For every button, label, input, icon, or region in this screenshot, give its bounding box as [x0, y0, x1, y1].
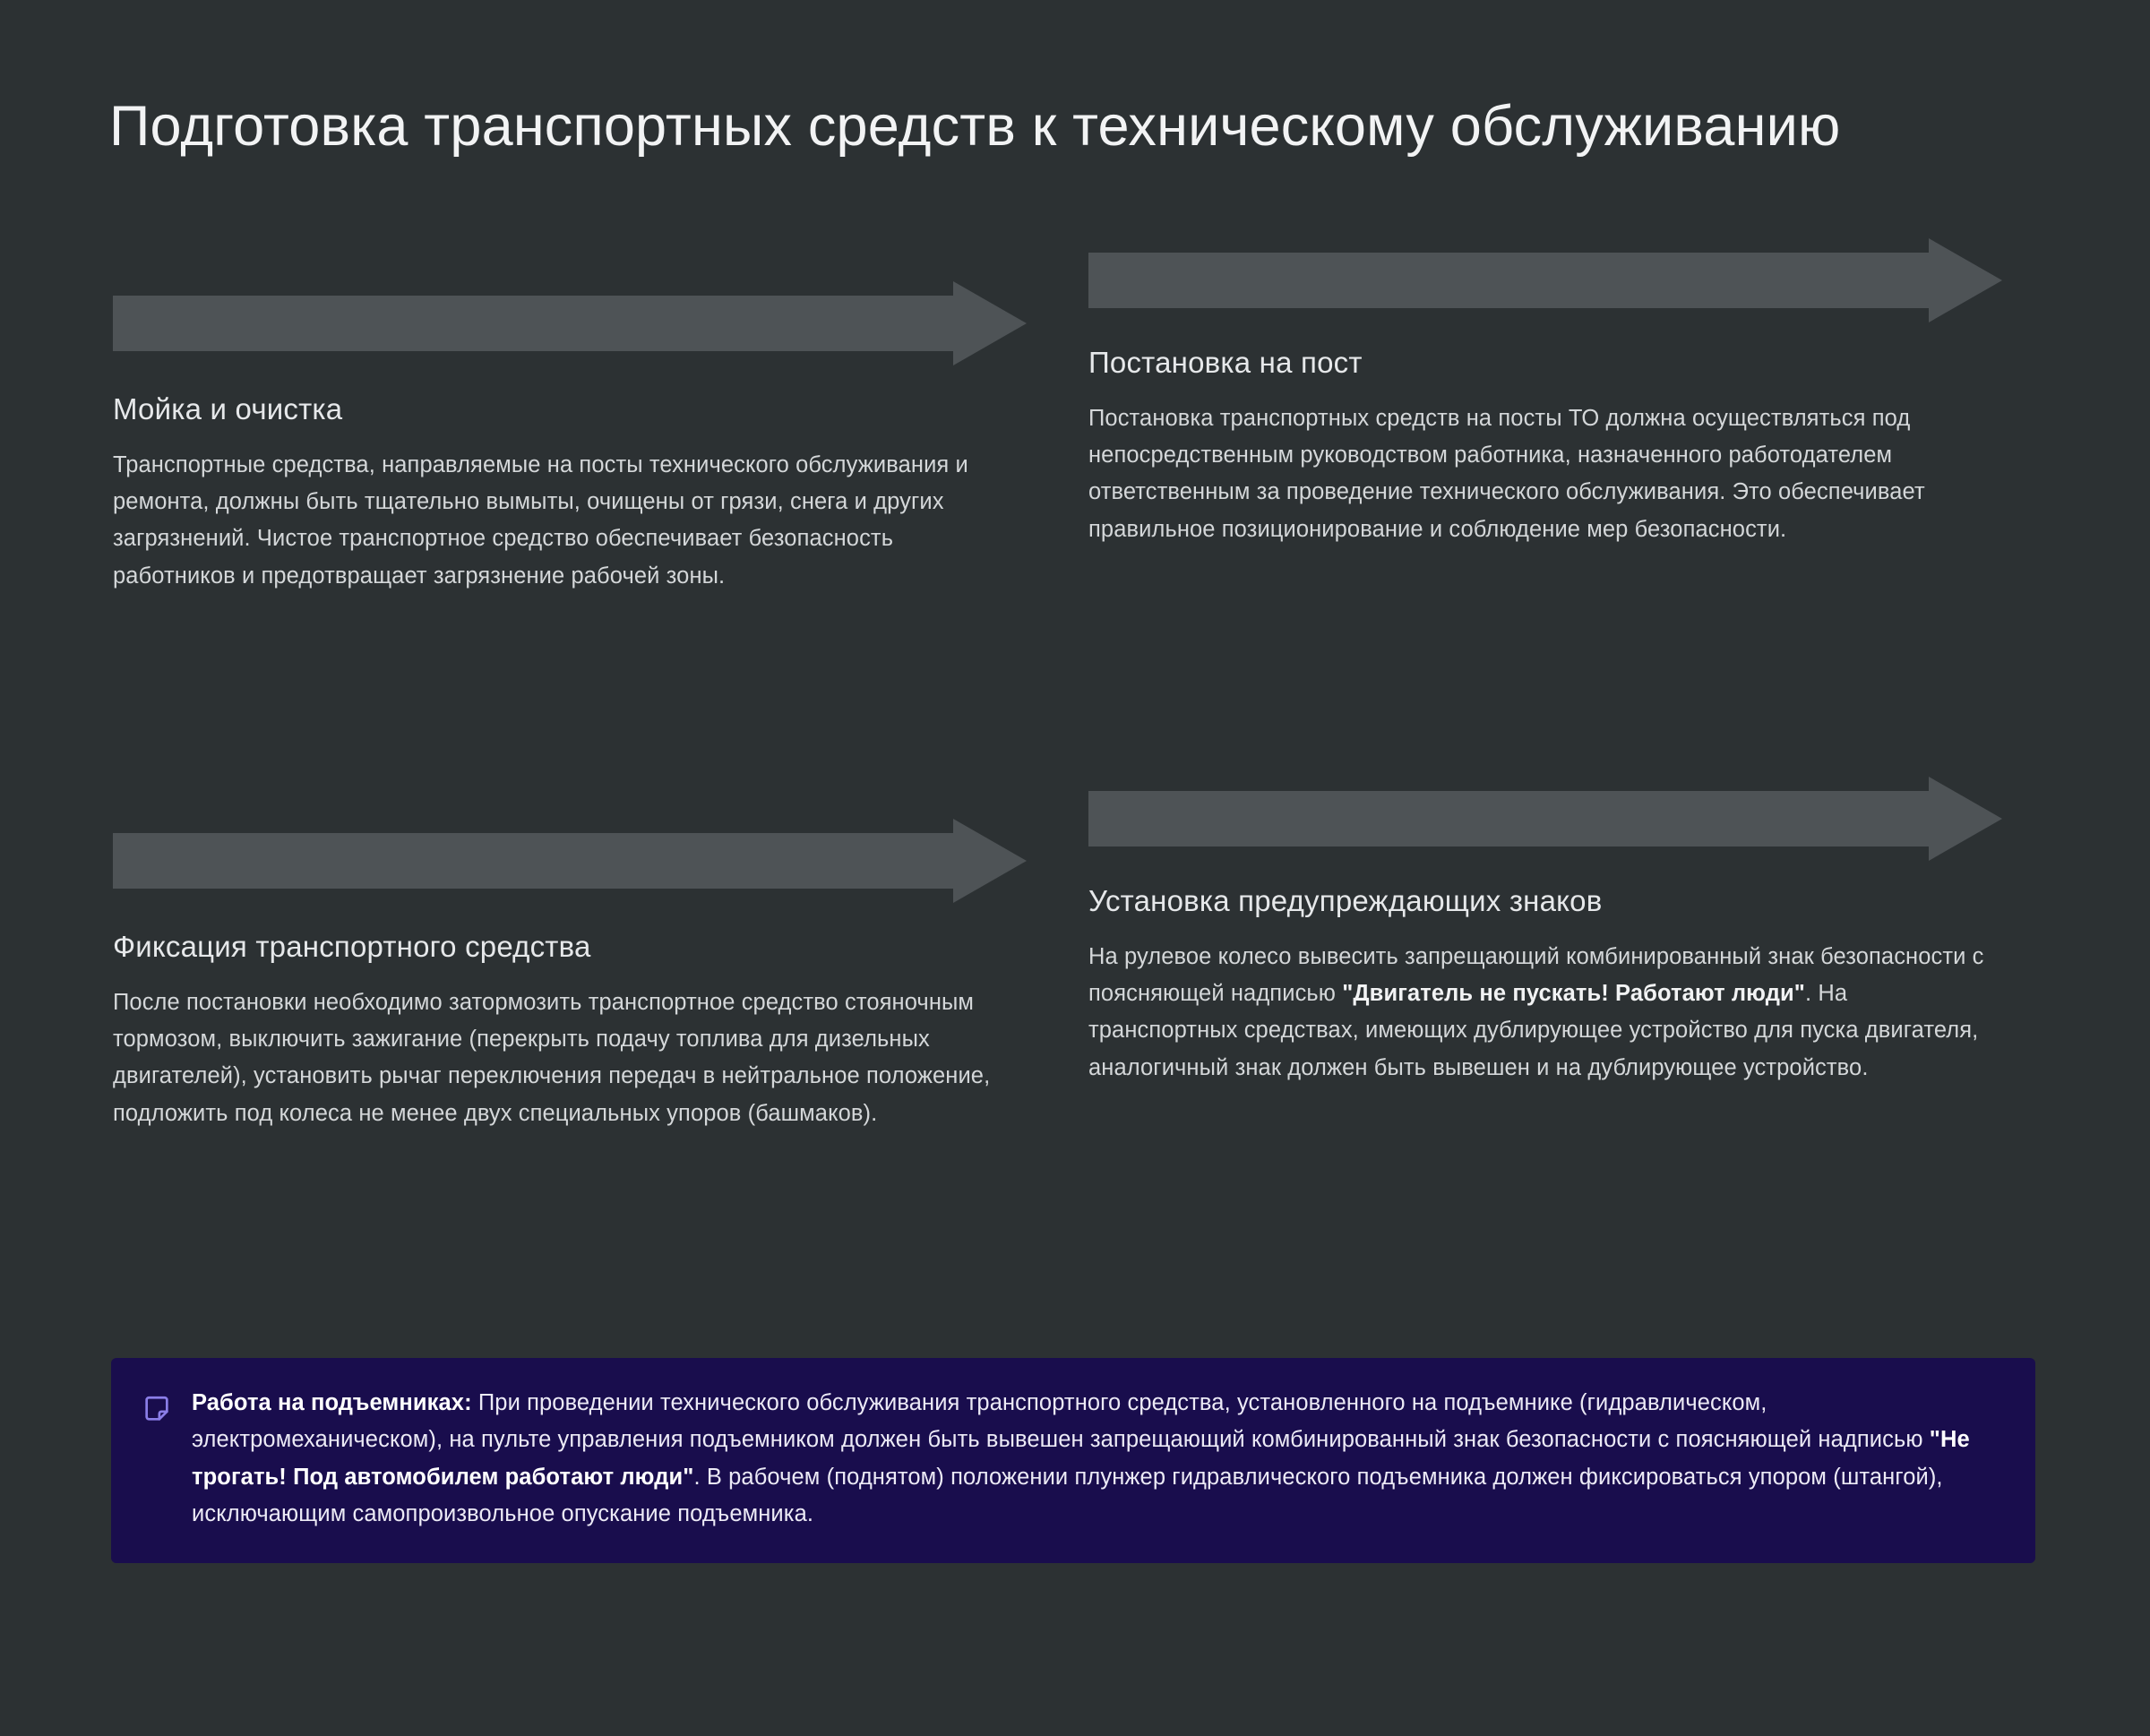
arrow-shaft	[113, 296, 955, 351]
arrow-right-icon	[1088, 253, 2002, 308]
callout-box-lifts: Работа на подъемниках: При проведении те…	[111, 1358, 2035, 1563]
step-card-positioning: Постановка на пост Постановка транспортн…	[1088, 253, 2002, 548]
step-title: Установка предупреждающих знаков	[1088, 882, 2002, 921]
step-card-warning-signs: Установка предупреждающих знаков На руле…	[1088, 791, 2002, 1087]
arrow-right-icon	[1088, 791, 2002, 847]
step-title: Фиксация транспортного средства	[113, 928, 1027, 967]
arrow-shaft	[113, 833, 955, 889]
arrow-shaft	[1088, 791, 1931, 847]
arrow-right-icon	[113, 296, 1027, 351]
arrow-head	[1929, 777, 2002, 861]
arrow-shaft	[1088, 253, 1931, 308]
step-body: На рулевое колесо вывесить запрещающий к…	[1088, 939, 1998, 1087]
step-body: После постановки необходимо затормозить …	[113, 984, 1022, 1132]
step-body: Транспортные средства, направляемые на п…	[113, 447, 1022, 595]
arrow-head	[953, 281, 1027, 365]
step-title: Постановка на пост	[1088, 344, 2002, 382]
page-title: Подготовка транспортных средств к технич…	[109, 93, 1955, 159]
slide-root: Подготовка транспортных средств к технич…	[0, 0, 2150, 1736]
step-card-securing: Фиксация транспортного средства После по…	[113, 833, 1027, 1132]
step-body: Постановка транспортных средств на посты…	[1088, 400, 1998, 548]
arrow-head	[1929, 238, 2002, 322]
step-title: Мойка и очистка	[113, 391, 1027, 429]
arrow-right-icon	[113, 833, 1027, 889]
callout-text: Работа на подъемниках: При проведении те…	[192, 1385, 2003, 1533]
arrow-head	[953, 819, 1027, 903]
step-card-washing: Мойка и очистка Транспортные средства, н…	[113, 296, 1027, 595]
sticky-note-icon	[142, 1394, 172, 1424]
